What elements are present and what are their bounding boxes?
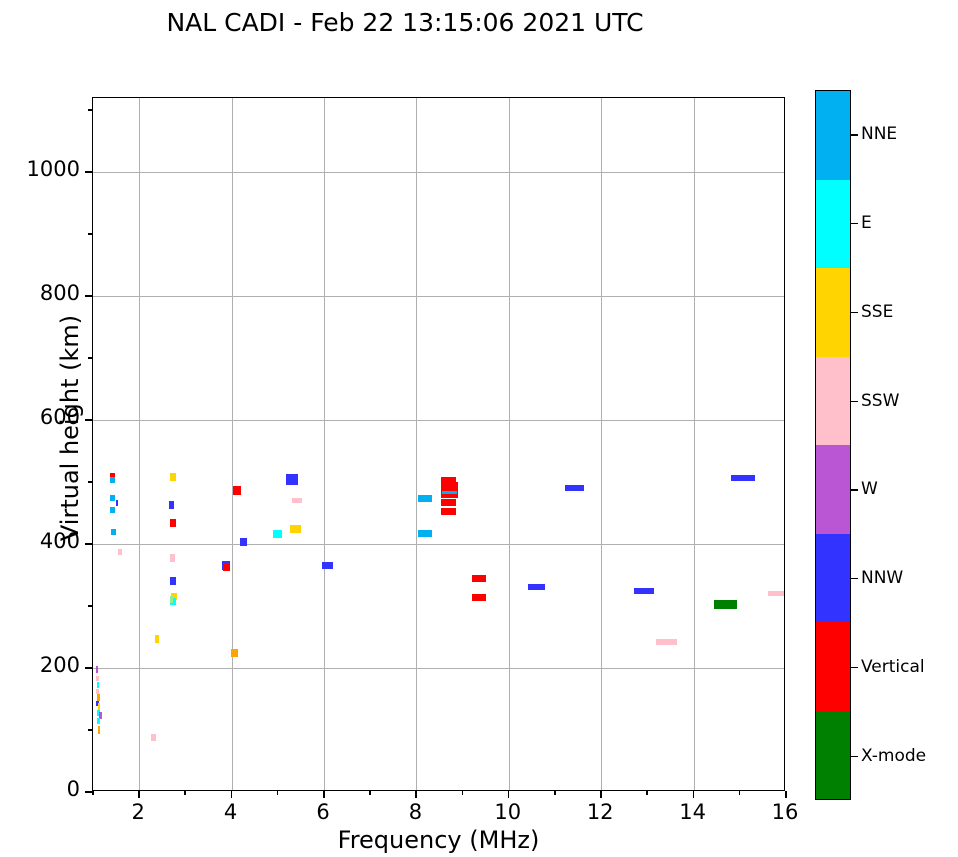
echo-mark [290,525,301,533]
colorbar-label-w: W [861,479,878,499]
colorbar-label-e: E [861,213,872,233]
x-axis-tick [600,791,602,798]
colorbar-tick [851,578,858,579]
echo-mark [170,519,176,527]
gridline-horizontal [93,544,784,545]
echo-mark [441,499,456,506]
echo-mark [169,501,175,509]
echo-mark [418,530,432,537]
x-axis-tick-label: 2 [108,800,168,824]
echo-mark [118,549,122,555]
gridline-vertical [232,98,233,790]
x-axis-tick-minor [739,791,741,795]
echo-mark [714,600,737,609]
colorbar-label-vertical: Vertical [861,657,925,677]
x-axis-tick [785,791,787,798]
x-axis-tick [138,791,140,798]
x-axis-tick-minor [369,791,371,795]
echo-mark [116,500,119,506]
echo-mark [223,564,230,571]
echo-mark [170,596,173,603]
colorbar-segment-w [816,445,850,534]
echo-mark [96,666,98,673]
echo-mark [110,507,115,513]
echo-mark [528,584,545,590]
x-axis-tick [415,791,417,798]
y-axis-tick [85,419,92,421]
chart-title: NAL CADI - Feb 22 13:15:06 2021 UTC [0,8,810,37]
x-axis-tick [231,791,233,798]
echo-mark [155,635,159,643]
echo-mark [472,575,486,582]
plot-area [92,97,785,791]
gridline-vertical [509,98,510,790]
y-axis-tick [85,667,92,669]
echo-mark [110,477,115,483]
x-axis-tick [508,791,510,798]
echo-mark [231,649,238,657]
gridline-horizontal [93,668,784,669]
x-axis-tick-minor [92,791,94,795]
echo-mark [418,495,432,502]
gridline-horizontal [93,420,784,421]
gridline-vertical [601,98,602,790]
echo-mark [441,482,459,498]
y-axis-tick-label: 0 [0,777,80,801]
gridline-vertical [324,98,325,790]
x-axis-tick-minor [646,791,648,795]
y-axis-tick [85,543,92,545]
gridline-vertical [416,98,417,790]
y-axis-tick [85,791,92,793]
echo-mark [170,577,176,585]
y-axis-tick-minor [88,233,92,235]
y-axis-tick-minor [88,729,92,731]
echo-mark [97,682,99,688]
colorbar-segment-e [816,180,850,269]
x-axis-tick-minor [462,791,464,795]
x-axis-tick-label: 10 [478,800,538,824]
echo-mark [151,734,156,741]
colorbar-label-sse: SSE [861,302,893,322]
gridline-vertical [694,98,695,790]
colorbar-segment-nne [816,91,850,180]
gridline-horizontal [93,172,784,173]
colorbar-tick [851,489,858,490]
echo-mark [96,676,99,681]
echo-mark [96,689,99,694]
echo-mark [97,718,99,724]
y-axis-tick-minor [88,481,92,483]
echo-mark [240,538,247,546]
y-axis-label: Virtual height (km) [56,228,84,628]
y-axis-tick-label: 1000 [0,157,80,181]
x-axis-label: Frequency (MHz) [92,826,785,854]
x-axis-tick-label: 6 [293,800,353,824]
x-axis-tick [693,791,695,798]
y-axis-tick-minor [88,109,92,111]
echo-mark [656,639,677,645]
x-axis-tick-minor [277,791,279,795]
echo-mark [634,588,654,594]
echo-mark [322,562,333,569]
colorbar-segment-nnw [816,534,850,623]
echo-mark [111,529,116,535]
y-axis-tick-minor [88,357,92,359]
echo-mark [472,594,486,601]
echo-mark [731,475,756,481]
x-axis-tick [323,791,325,798]
colorbar-tick [851,223,858,224]
colorbar-segment-x-mode [816,711,850,800]
colorbar-segment-sse [816,268,850,357]
x-axis-tick-label: 14 [663,800,723,824]
y-axis-tick [85,295,92,297]
echo-mark [170,554,176,562]
echo-mark [170,473,176,481]
echo-mark [286,474,298,485]
x-axis-tick-label: 4 [201,800,261,824]
y-axis-tick [85,171,92,173]
x-axis-tick-minor [554,791,556,795]
colorbar-tick [851,667,858,668]
azimuth-colorbar [815,90,851,800]
colorbar-label-nnw: NNW [861,568,903,588]
colorbar-tick [851,756,858,757]
echo-mark [273,530,282,538]
colorbar-tick [851,312,858,313]
echo-mark [233,486,241,495]
colorbar-segment-ssw [816,357,850,446]
colorbar-segment-vertical [816,622,850,711]
colorbar-tick [851,134,858,135]
x-axis-tick-minor [184,791,186,795]
echo-mark [292,498,302,503]
echo-mark [565,485,584,491]
ionogram-figure: NAL CADI - Feb 22 13:15:06 2021 UTC 0200… [0,0,958,857]
gridline-horizontal [93,296,784,297]
x-axis-tick-label: 12 [570,800,630,824]
colorbar-label-nne: NNE [861,124,897,144]
colorbar-tick [851,401,858,402]
colorbar-label-x-mode: X-mode [861,746,926,766]
echo-mark [768,591,785,596]
gridline-vertical [139,98,140,790]
echo-mark [98,726,101,734]
y-axis-tick-minor [88,605,92,607]
x-axis-tick-label: 8 [385,800,445,824]
echo-mark [442,491,457,494]
x-axis-tick-label: 16 [755,800,815,824]
echo-mark [441,508,456,515]
y-axis-tick-label: 200 [0,653,80,677]
colorbar-label-ssw: SSW [861,391,899,411]
